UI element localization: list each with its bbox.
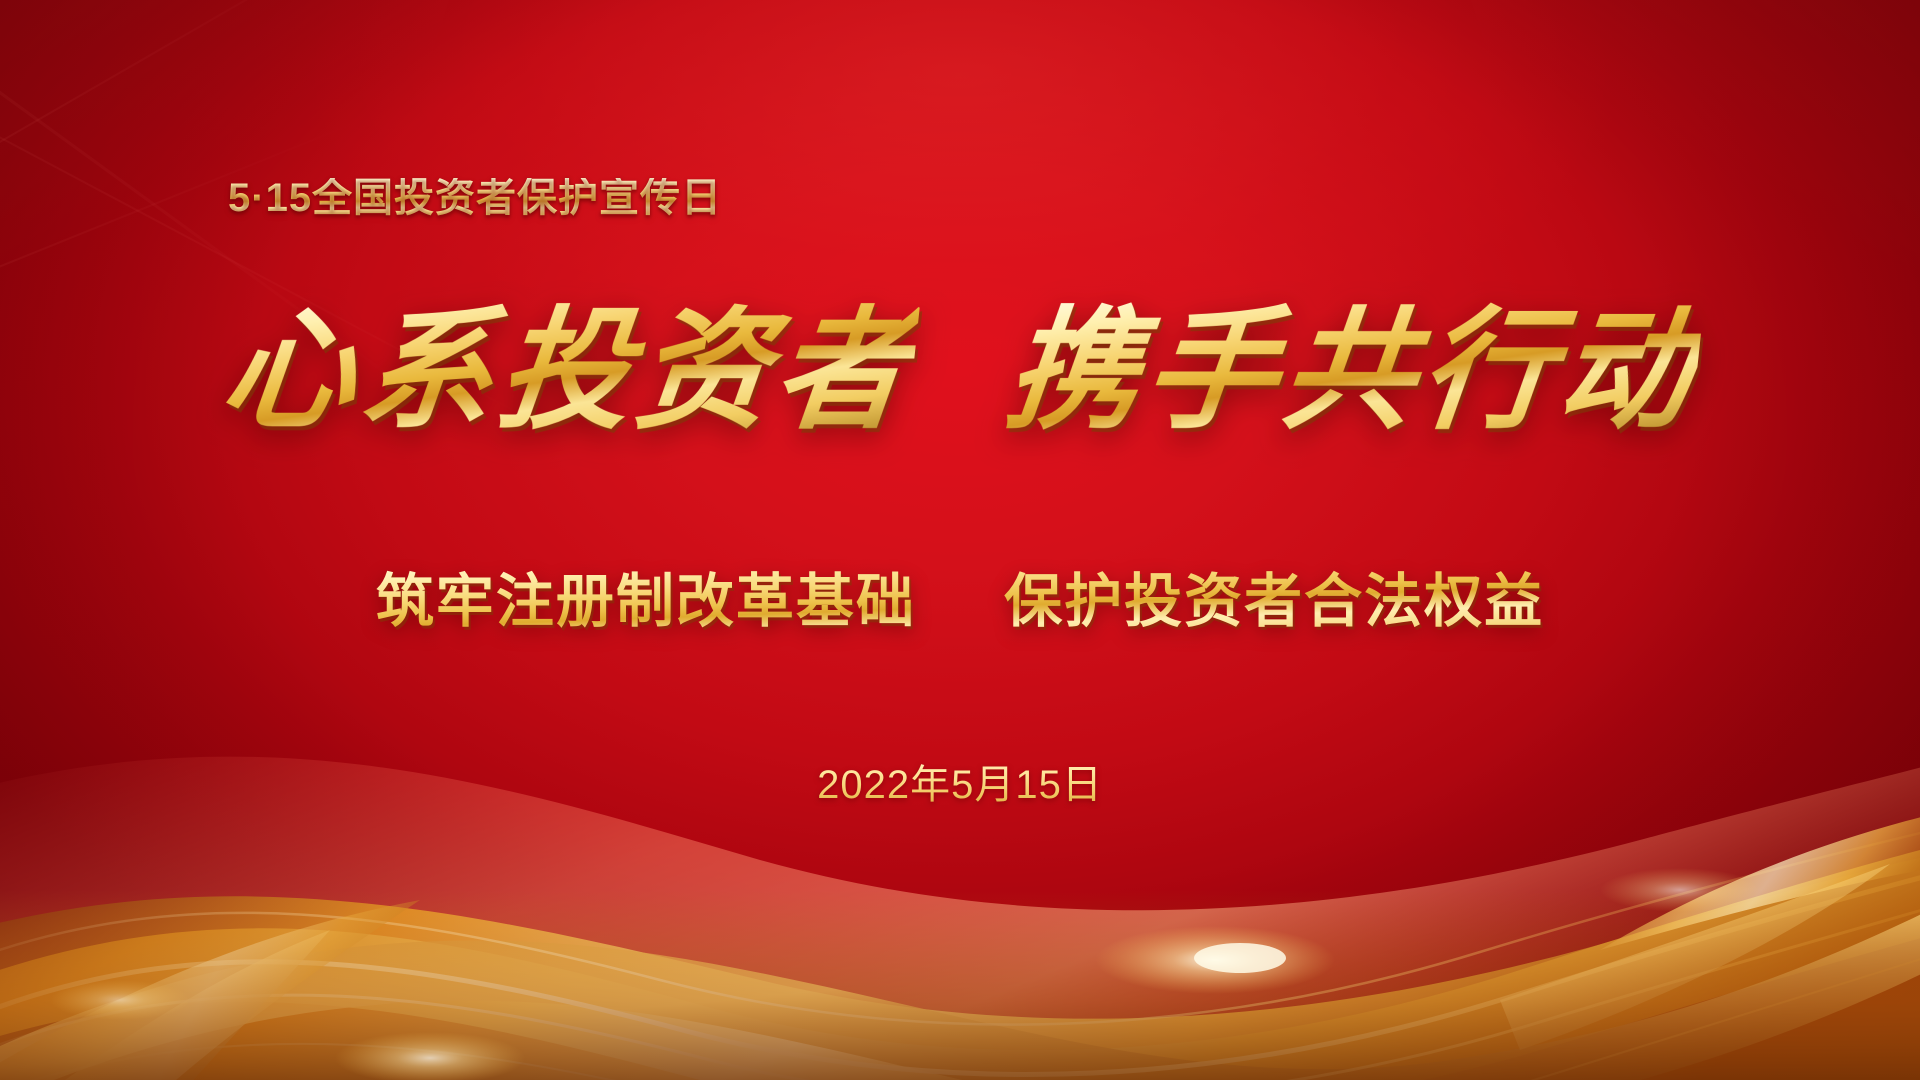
sub-headline: 筑牢注册制改革基础 保护投资者合法权益 [0,570,1920,634]
headline-phrase-one: 心系投资者 [215,300,920,443]
headline-phrase-two: 携手共行动 [1000,300,1705,443]
campaign-eyebrow-text: 5·15全国投资者保护宣传日 [228,178,722,218]
poster-content: 5·15全国投资者保护宣传日 心系投资者 携手共行动 筑牢注册制改革基础 保护投… [0,0,1920,1080]
main-headline: 心系投资者 携手共行动 [0,300,1920,443]
event-date: 2022年5月15日 [0,752,1920,810]
promotional-poster: 5·15全国投资者保护宣传日 心系投资者 携手共行动 筑牢注册制改革基础 保护投… [0,0,1920,1080]
subhead-phrase-two: 保护投资者合法权益 [1004,569,1544,634]
subhead-phrase-one: 筑牢注册制改革基础 [376,569,916,634]
